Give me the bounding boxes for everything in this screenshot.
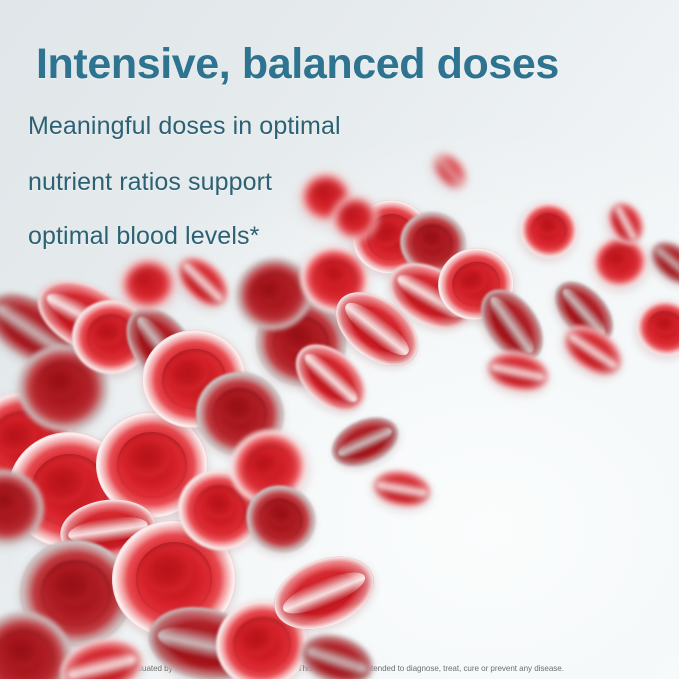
- blood-cell: [643, 233, 679, 292]
- blood-cell: [369, 465, 435, 513]
- promo-image: Intensive, balanced doses Meaningful dos…: [0, 0, 679, 679]
- blood-cell: [324, 408, 406, 477]
- subheading-line-1: Meaningful doses in optimal: [28, 112, 341, 141]
- subheading-line-2: nutrient ratios support: [28, 168, 272, 197]
- page-title: Intensive, balanced doses: [36, 40, 559, 89]
- blood-cell: [512, 193, 587, 267]
- red-blood-cells-artwork: [0, 0, 679, 679]
- blood-cell: [629, 293, 679, 363]
- blood-cell: [167, 246, 239, 318]
- blood-cell: [483, 346, 554, 398]
- subheading-line-3: optimal blood levels*: [28, 222, 259, 251]
- blood-cell: [427, 147, 473, 194]
